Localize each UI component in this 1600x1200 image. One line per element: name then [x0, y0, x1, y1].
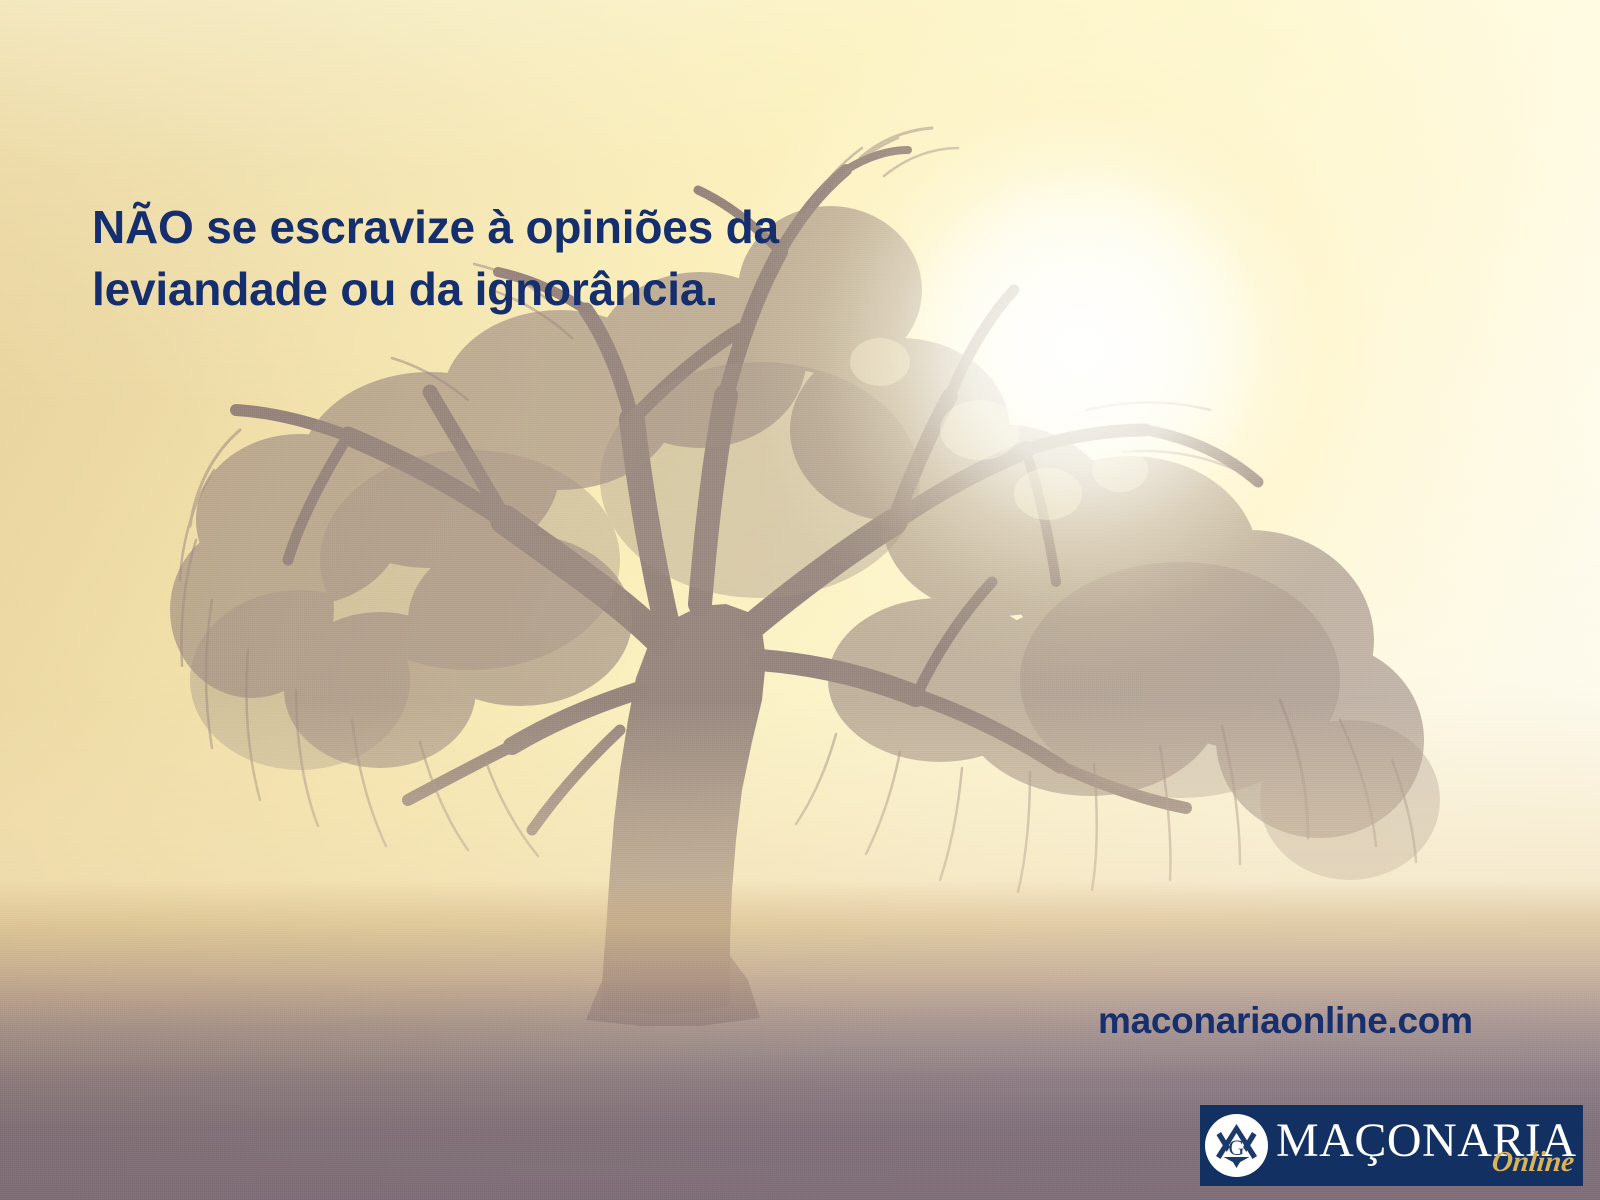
quote-image-canvas: NÃO se escravize à opiniões da leviandad…	[0, 0, 1600, 1200]
svg-text:G: G	[1229, 1135, 1245, 1160]
quote-line-2: leviandade ou da ignorância.	[92, 258, 952, 320]
maconaria-online-logo[interactable]: G MAÇONARIA Online	[1200, 1105, 1583, 1186]
quote-line-1: NÃO se escravize à opiniões da	[92, 196, 952, 258]
website-url-text[interactable]: maconariaonline.com	[1098, 1000, 1473, 1042]
quote-text: NÃO se escravize à opiniões da leviandad…	[92, 196, 952, 320]
logo-wordmark-sub: Online	[1490, 1147, 1575, 1177]
logo-wordmark: MAÇONARIA Online	[1276, 1111, 1576, 1181]
square-and-compasses-icon: G	[1205, 1114, 1268, 1177]
